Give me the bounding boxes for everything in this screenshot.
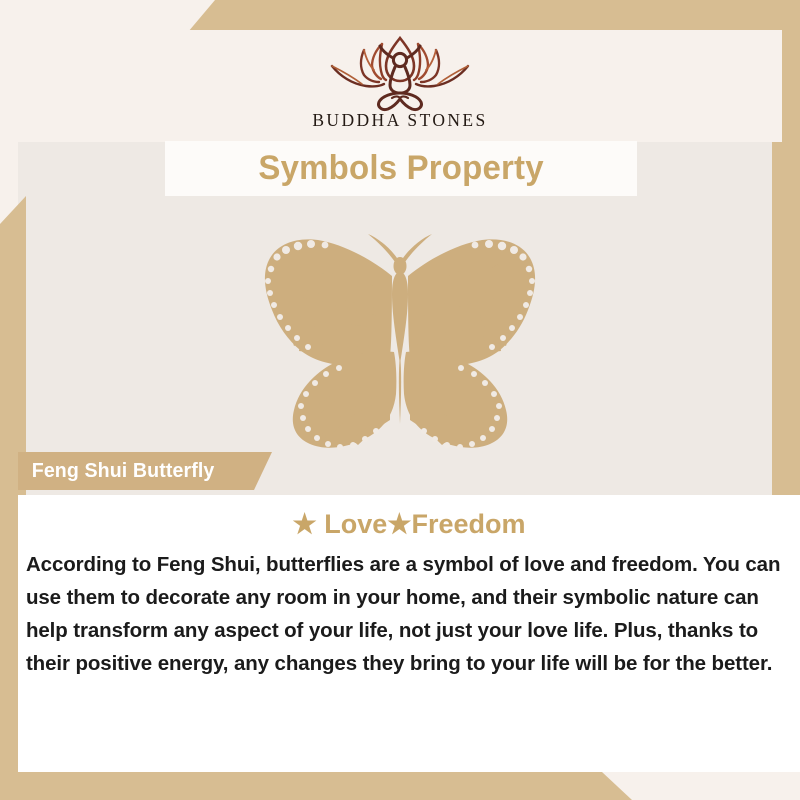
gold-top-band: [0, 0, 800, 32]
lotus-meditation-figure-icon: [324, 32, 476, 112]
page-title-box: Symbols Property: [165, 141, 637, 196]
description-panel: ★ Love★Freedom According to Feng Shui, b…: [18, 495, 800, 772]
brand-logo-area: BUDDHA STONES: [18, 30, 782, 142]
feng-shui-butterfly-label: Feng Shui Butterfly: [18, 452, 272, 490]
page-title: Symbols Property: [258, 149, 543, 188]
butterfly-illustration: [0, 218, 800, 458]
gold-bottom-band: [0, 772, 640, 800]
butterfly-icon: [230, 224, 570, 452]
subheading: ★ Love★Freedom: [18, 495, 800, 540]
ribbon-label-text: Feng Shui Butterfly: [20, 460, 214, 483]
product-info-graphic: BUDDHA STONES Symbols Property: [0, 0, 800, 800]
brand-wordmark: BUDDHA STONES: [312, 110, 487, 131]
description-paragraph: According to Feng Shui, butterflies are …: [18, 540, 796, 680]
